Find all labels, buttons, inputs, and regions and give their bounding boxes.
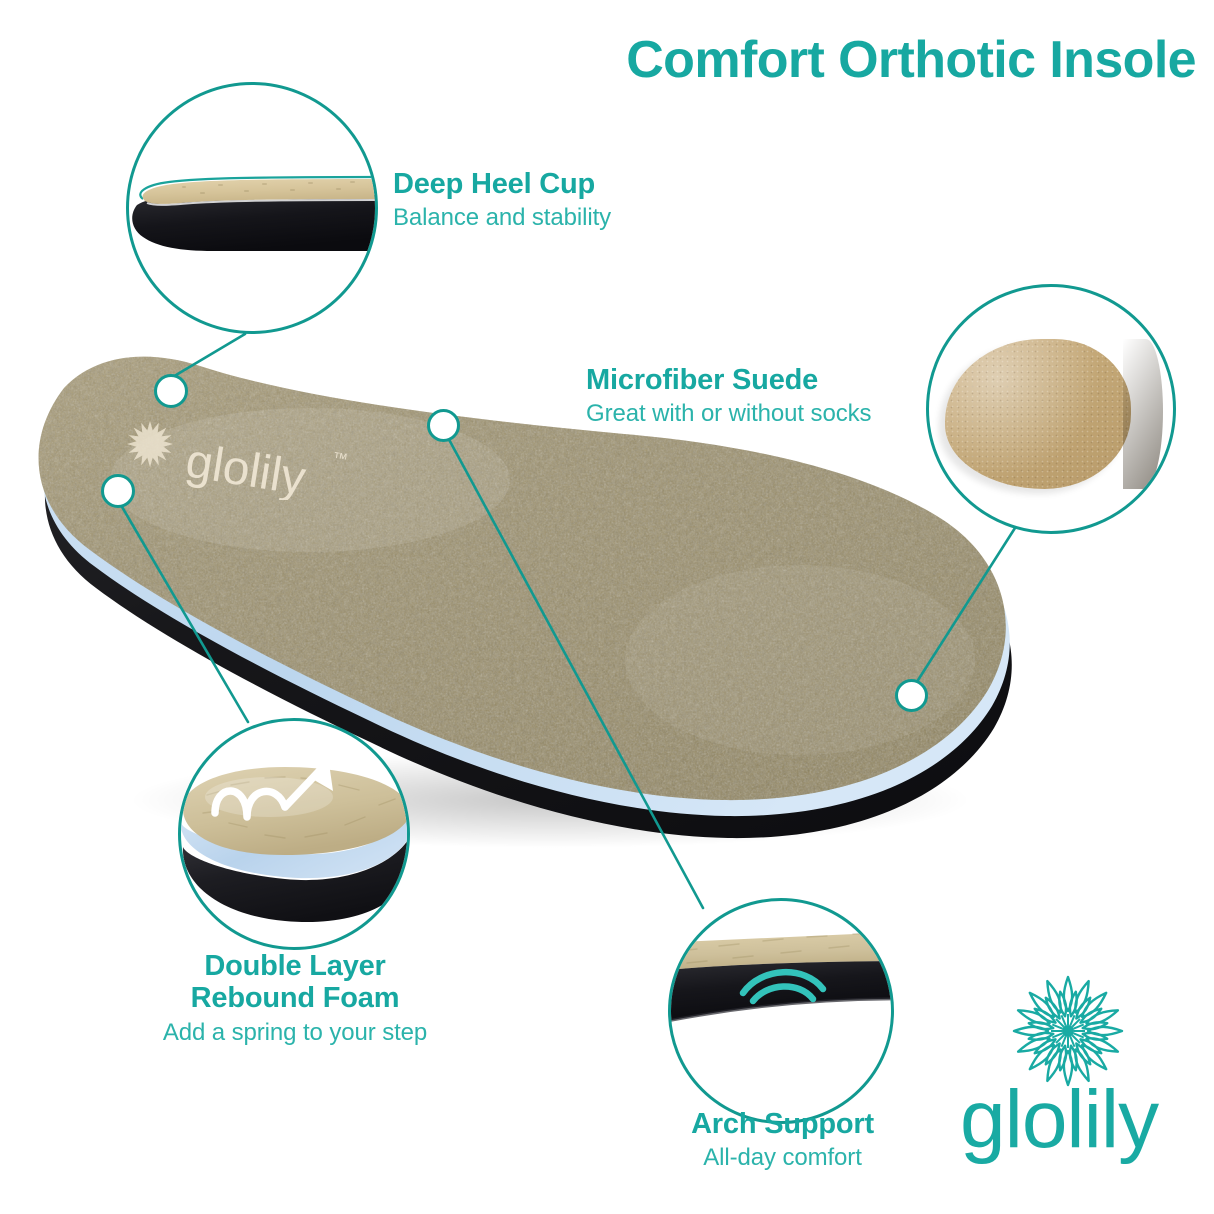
anchor-dot-deep-heel-cup[interactable] <box>154 374 188 408</box>
infographic-canvas: Comfort Orthotic Insole <box>0 0 1214 1214</box>
callout-bubble-microfiber-suede[interactable] <box>926 284 1176 534</box>
callout-bubble-arch-support[interactable] <box>668 898 894 1124</box>
callout-bubble-rebound-foam[interactable] <box>178 718 410 950</box>
anchor-dot-microfiber-suede[interactable] <box>895 679 928 712</box>
feature-label-rebound-foam: Double Layer Rebound Foam Add a spring t… <box>130 950 460 1048</box>
arch-support-profile-icon <box>668 931 894 1041</box>
anchor-dot-arch-support[interactable] <box>427 409 460 442</box>
feature-subtitle-arch-support: All-day comfort <box>625 1144 940 1173</box>
feature-label-deep-heel-cup: Deep Heel Cup Balance and stability <box>393 168 611 233</box>
feature-title-microfiber-suede: Microfiber Suede <box>586 364 871 396</box>
brand-logo: glolily <box>960 975 1210 1190</box>
feature-label-microfiber-suede: Microfiber Suede Great with or without s… <box>586 364 871 429</box>
rebound-foam-layers-icon <box>178 761 410 929</box>
feature-title-deep-heel-cup: Deep Heel Cup <box>393 168 611 200</box>
feature-title-rebound-foam-line2: Rebound Foam <box>130 982 460 1014</box>
page-title: Comfort Orthotic Insole <box>0 32 1196 89</box>
heel-cup-cross-section-icon <box>126 169 378 259</box>
callout-bubble-deep-heel-cup[interactable] <box>126 82 378 334</box>
feature-title-rebound-foam-line1: Double Layer <box>130 950 460 982</box>
feature-title-arch-support: Arch Support <box>625 1108 940 1140</box>
feature-subtitle-rebound-foam: Add a spring to your step <box>130 1019 460 1048</box>
feature-subtitle-deep-heel-cup: Balance and stability <box>393 204 611 233</box>
anchor-dot-rebound-foam[interactable] <box>101 474 135 508</box>
starburst-flower-icon <box>1012 975 1124 1087</box>
feature-subtitle-microfiber-suede: Great with or without socks <box>586 400 871 429</box>
suede-surface-closeup-icon <box>945 339 1131 489</box>
brand-wordmark: glolily <box>960 1079 1210 1161</box>
feature-label-arch-support: Arch Support All-day comfort <box>625 1108 940 1173</box>
